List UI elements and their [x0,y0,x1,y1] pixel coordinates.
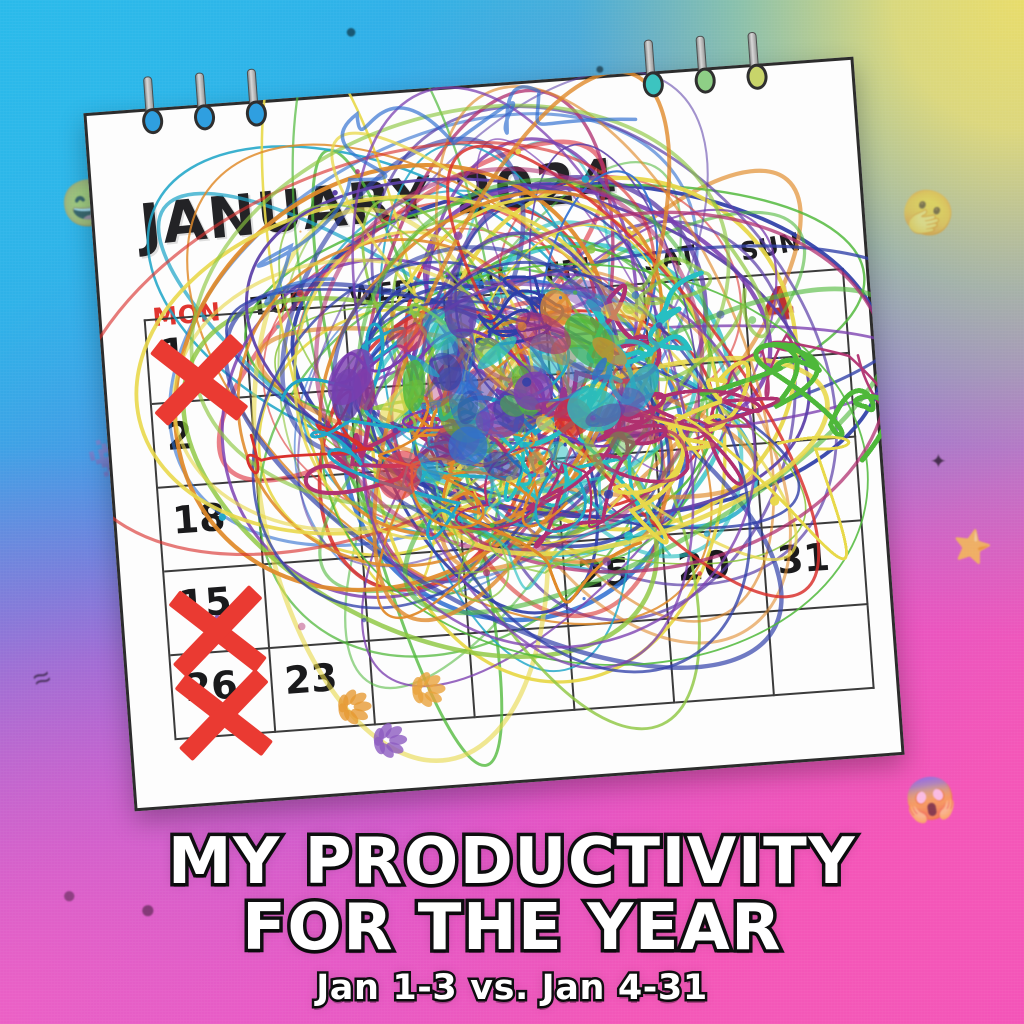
day-cell[interactable]: 25 [563,536,669,627]
day-cell[interactable] [364,551,470,642]
day-cell[interactable] [545,285,651,376]
day-cell[interactable] [345,299,451,390]
day-number: 31 [776,538,832,580]
day-grid: 14218152520312623 [144,268,875,740]
weekday-header-sat: SAT [640,239,698,277]
day-number: 18 [171,498,227,540]
day-cell[interactable] [252,390,358,481]
day-number: 2 [165,416,194,456]
day-cell[interactable] [246,307,352,398]
wall-calendar: JANUARY 2024 MONTUEWEDTHUFRISATSUN 14218… [83,57,904,812]
day-cell[interactable] [445,292,551,383]
day-cell[interactable] [669,612,775,703]
day-cell[interactable] [370,634,476,725]
day-cell[interactable] [551,368,657,459]
day-number: 15 [177,582,233,624]
day-number: 20 [676,545,732,587]
day-cell[interactable] [750,354,856,445]
day-cell[interactable] [557,452,663,543]
day-cell[interactable] [569,620,675,711]
day-cell[interactable]: 18 [158,481,264,572]
day-cell[interactable]: 26 [170,649,276,740]
day-cell[interactable] [457,459,563,550]
day-cell[interactable] [756,437,862,528]
meme-image: 😄●●🫢👾✦⭐≈😱●●✦ JANUARY 2024 MONTUEWEDTHUFR… [0,0,1024,1024]
day-cell[interactable]: 31 [763,521,869,612]
day-cell[interactable] [358,467,464,558]
day-cell[interactable]: 1 [146,314,252,405]
day-cell[interactable] [657,445,763,536]
day-cell[interactable]: 23 [270,642,376,733]
day-cell[interactable] [351,383,457,474]
weekday-header-sun: SUN [738,227,803,267]
day-cell[interactable] [769,605,875,696]
day-cell[interactable] [463,543,569,634]
day-cell[interactable]: 20 [663,529,769,620]
day-cell[interactable] [651,361,757,452]
day-number: 25 [576,552,632,594]
caption-line-1: MY PRODUCTIVITY [0,829,1024,896]
day-cell[interactable]: 4 [744,270,850,361]
caption-block: MY PRODUCTIVITY FOR THE YEAR Jan 1-3 vs.… [0,829,1024,1006]
day-cell[interactable]: 15 [164,565,270,656]
day-cell[interactable]: 2 [152,398,258,489]
day-cell[interactable] [258,474,364,565]
caption-line-2: FOR THE YEAR [0,895,1024,962]
day-number: 1 [159,332,188,372]
day-number: 26 [183,666,239,708]
day-cell[interactable] [644,277,750,368]
weekday-header-fri: FRI [543,252,594,288]
day-number: 23 [283,658,339,700]
day-cell[interactable] [451,376,557,467]
day-number-marker: 4 [759,279,797,329]
day-cell[interactable] [264,558,370,649]
day-cell[interactable] [470,627,576,718]
caption-subtitle: Jan 1-3 vs. Jan 4-31 [0,970,1024,1006]
